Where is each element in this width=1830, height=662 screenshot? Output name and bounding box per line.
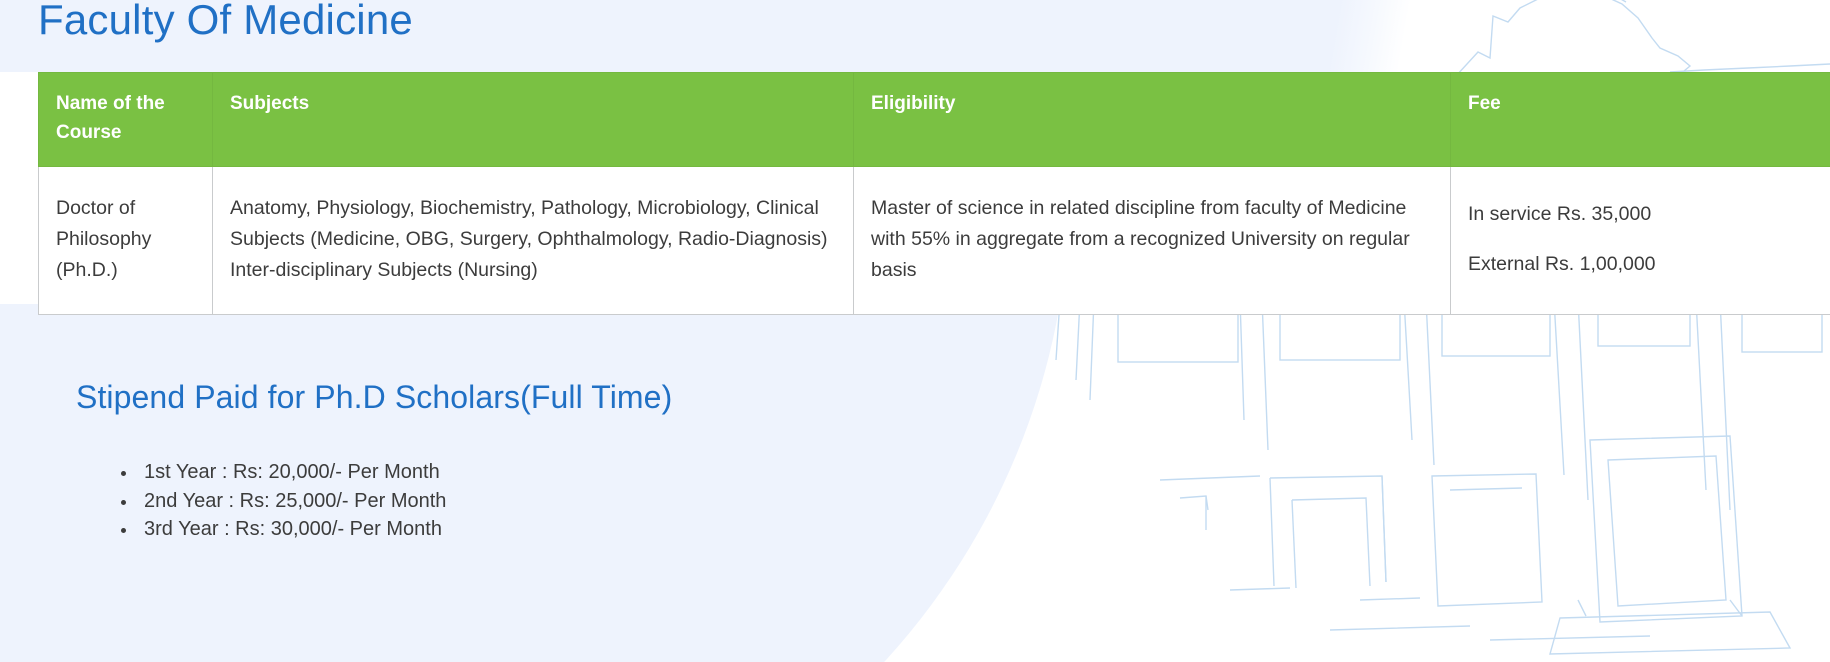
course-table-container: Name of the Course Subjects Eligibility … (38, 72, 1830, 315)
cell-course-name: Doctor of Philosophy (Ph.D.) (39, 166, 213, 314)
course-table-body: Doctor of Philosophy (Ph.D.) Anatomy, Ph… (39, 166, 1830, 314)
course-table: Name of the Course Subjects Eligibility … (38, 72, 1830, 315)
cell-fee: In service Rs. 35,000 External Rs. 1,00,… (1451, 166, 1830, 314)
list-item: 1st Year : Rs: 20,000/- Per Month (138, 458, 446, 487)
stipend-section-heading: Stipend Paid for Ph.D Scholars(Full Time… (76, 379, 672, 416)
column-header-fee: Fee (1451, 73, 1830, 167)
page-title: Faculty Of Medicine (38, 0, 413, 44)
stipend-list: 1st Year : Rs: 20,000/- Per Month 2nd Ye… (108, 458, 446, 544)
column-header-eligibility: Eligibility (854, 73, 1451, 167)
cell-subjects: Anatomy, Physiology, Biochemistry, Patho… (213, 166, 854, 314)
cell-eligibility: Master of science in related discipline … (854, 166, 1451, 314)
table-header-row: Name of the Course Subjects Eligibility … (39, 73, 1830, 167)
column-header-subjects: Subjects (213, 73, 854, 167)
fee-in-service: In service Rs. 35,000 (1468, 199, 1830, 230)
fee-spacer (1468, 230, 1830, 249)
course-table-head: Name of the Course Subjects Eligibility … (39, 73, 1830, 167)
column-header-name-of-the-course: Name of the Course (39, 73, 213, 167)
fee-external: External Rs. 1,00,000 (1468, 249, 1830, 280)
list-item: 2nd Year : Rs: 25,000/- Per Month (138, 487, 446, 516)
table-row: Doctor of Philosophy (Ph.D.) Anatomy, Ph… (39, 166, 1830, 314)
list-item: 3rd Year : Rs: 30,000/- Per Month (138, 515, 446, 544)
